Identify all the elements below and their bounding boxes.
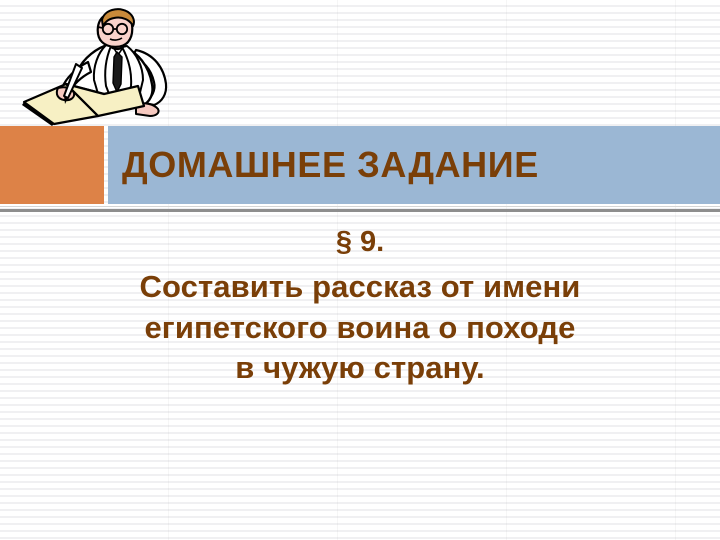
- title-bar: ДОМАШНЕЕ ЗАДАНИЕ: [108, 126, 720, 204]
- section-reference: § 9.: [30, 222, 690, 263]
- title-accent-block: [0, 126, 104, 204]
- page-title: ДОМАШНЕЕ ЗАДАНИЕ: [122, 147, 539, 183]
- slide-body: § 9. Составить рассказ от имени египетск…: [30, 222, 690, 389]
- header-divider: [0, 209, 720, 212]
- man-writing-in-book-clipart: [18, 6, 178, 126]
- slide-canvas: ДОМАШНЕЕ ЗАДАНИЕ § 9. Составить рассказ …: [0, 0, 720, 540]
- body-line-2: египетского воина о походе: [30, 308, 690, 349]
- body-line-3: в чужую страну.: [30, 348, 690, 389]
- body-line-1: Составить рассказ от имени: [30, 267, 690, 308]
- header-divider-light: [0, 206, 720, 207]
